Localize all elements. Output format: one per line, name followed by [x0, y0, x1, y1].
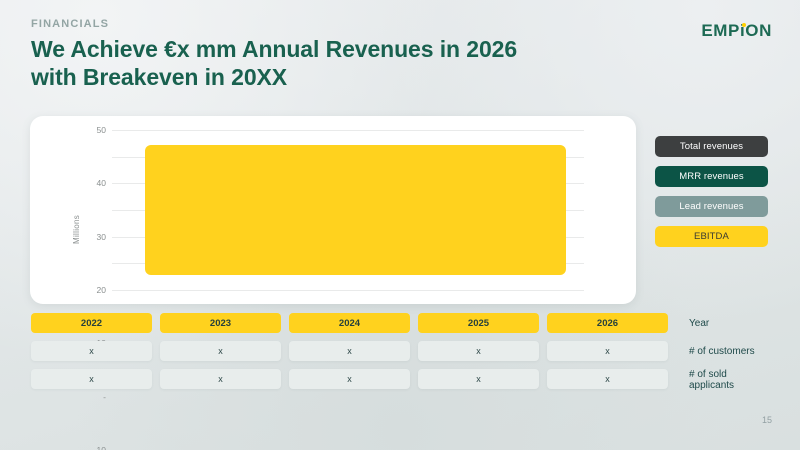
logo-dot-icon [742, 23, 746, 27]
table-cell-r1-c1[interactable]: x [160, 341, 281, 361]
table-row-label: Year [676, 313, 768, 333]
table-cell-r0-c4[interactable]: 2026 [547, 313, 668, 333]
legend-item-0[interactable]: Total revenues [655, 136, 768, 157]
table-cell-r0-c2[interactable]: 2024 [289, 313, 410, 333]
page-title: We Achieve €x mm Annual Revenues in 2026… [31, 35, 631, 91]
table-cell-r1-c2[interactable]: x [289, 341, 410, 361]
table-row: 20222023202420252026Year [31, 313, 768, 333]
ebitda-bar-series [145, 145, 566, 275]
slide-canvas: FINANCIALS We Achieve €x mm Annual Reven… [0, 0, 800, 450]
logo-wordmark-text: EMPiON [701, 21, 772, 40]
assumptions-table: 20222023202420252026Yearxxxxx# of custom… [31, 313, 768, 399]
revenue-chart-card: Millions 5040302010--10 [30, 116, 636, 304]
table-cell-r0-c1[interactable]: 2023 [160, 313, 281, 333]
page-number: 15 [762, 415, 772, 425]
table-row-label: # of customers [676, 341, 768, 361]
page-title-line-2: with Breakeven in 20XX [31, 63, 631, 91]
legend-item-1[interactable]: MRR revenues [655, 166, 768, 187]
table-cell-r2-c4[interactable]: x [547, 369, 668, 389]
y-axis-tick-label: -10 [94, 445, 106, 450]
page-title-line-1: We Achieve €x mm Annual Revenues in 2026 [31, 36, 517, 62]
chart-plot-area: 5040302010--10 [112, 130, 584, 290]
y-axis-tick-label: 50 [97, 125, 106, 135]
section-eyebrow: FINANCIALS [31, 18, 109, 30]
y-axis-title: Millions [72, 215, 81, 244]
table-cell-r1-c3[interactable]: x [418, 341, 539, 361]
legend-item-3[interactable]: EBITDA [655, 226, 768, 247]
table-cell-r2-c3[interactable]: x [418, 369, 539, 389]
y-axis-tick-label: 20 [97, 285, 106, 295]
empion-logo: EMPiON [701, 20, 772, 42]
table-cell-r0-c0[interactable]: 2022 [31, 313, 152, 333]
table-row: xxxxx# of sold applicants [31, 369, 768, 391]
table-cell-r1-c4[interactable]: x [547, 341, 668, 361]
table-cell-r1-c0[interactable]: x [31, 341, 152, 361]
grid-line: -10 [112, 290, 584, 291]
table-cell-r0-c3[interactable]: 2025 [418, 313, 539, 333]
table-cell-r2-c0[interactable]: x [31, 369, 152, 389]
grid-line: 50 [112, 130, 584, 131]
table-cell-r2-c2[interactable]: x [289, 369, 410, 389]
y-axis-tick-label: 40 [97, 178, 106, 188]
table-row-label: # of sold applicants [676, 369, 768, 391]
table-cell-r2-c1[interactable]: x [160, 369, 281, 389]
y-axis-tick-label: 30 [97, 232, 106, 242]
table-row: xxxxx# of customers [31, 341, 768, 361]
legend-item-2[interactable]: Lead revenues [655, 196, 768, 217]
logo-wordmark: EMPiON [701, 20, 772, 42]
chart-legend: Total revenuesMRR revenuesLead revenuesE… [655, 136, 768, 256]
